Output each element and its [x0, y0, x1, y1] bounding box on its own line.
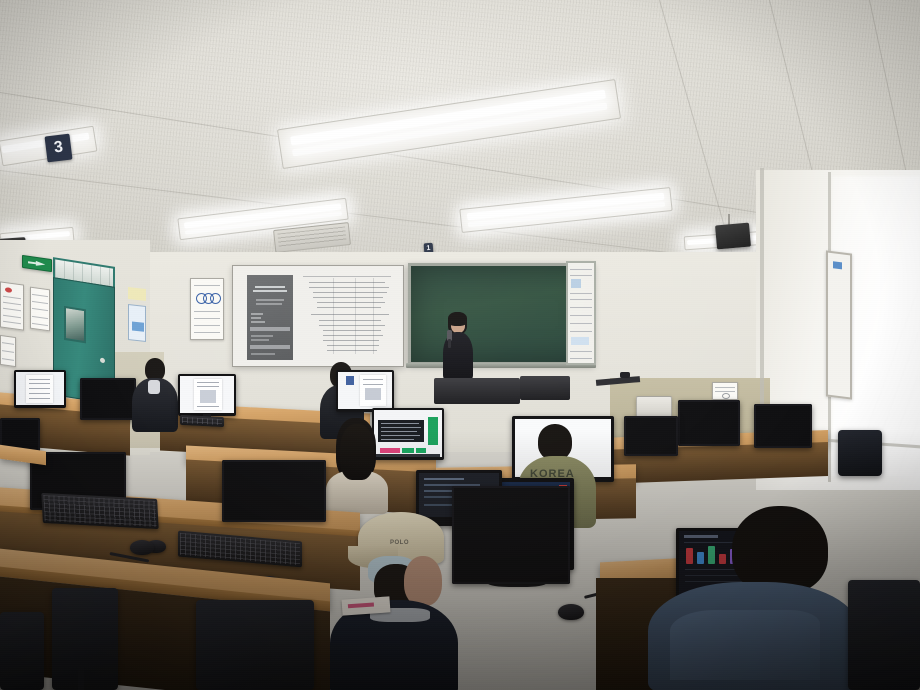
board-side-panel: [566, 261, 596, 365]
slide-title-line-1: [255, 286, 285, 288]
room-number-plate-near: 3: [45, 134, 73, 163]
spreadsheet-green-column: [428, 417, 438, 445]
monitor[interactable]: [678, 400, 740, 446]
monitor[interactable]: [624, 416, 678, 456]
slide-title-line-2: [253, 290, 287, 292]
wall-note-yellow: [128, 287, 146, 301]
monitor-foreground[interactable]: [452, 486, 570, 584]
chair[interactable]: [196, 600, 314, 690]
wall-speaker-right: [715, 223, 751, 250]
chair-leg: [78, 660, 84, 690]
book-on-desk: [342, 596, 391, 615]
monitor[interactable]: [754, 404, 812, 448]
projection-screen: [232, 265, 404, 367]
monitor-left-doc[interactable]: [178, 374, 236, 416]
monitor[interactable]: [14, 370, 66, 408]
cap-text-polo: POLO: [390, 540, 409, 546]
chair[interactable]: [838, 430, 882, 476]
student-longhair: [326, 418, 388, 508]
instructor: [440, 312, 476, 380]
front-av-cabinet: [434, 378, 520, 404]
chair[interactable]: [848, 580, 920, 690]
monitor[interactable]: [222, 460, 326, 522]
wall-poster-rings: [190, 278, 224, 340]
monitor[interactable]: [80, 378, 136, 420]
wall-poster-left-1: [0, 281, 24, 330]
wall-notice-blue: [128, 304, 146, 342]
wall-notice-frame: [826, 250, 852, 399]
chair[interactable]: [0, 612, 44, 690]
slide-right-table: [303, 274, 397, 362]
chair[interactable]: [52, 588, 118, 690]
monitor-mid-doc[interactable]: [336, 370, 394, 412]
mouse[interactable]: [130, 540, 154, 555]
front-av-cabinet-2: [520, 376, 570, 400]
keyboard[interactable]: [41, 493, 158, 529]
mouse[interactable]: [558, 604, 584, 620]
wall-sign-small: [712, 382, 738, 400]
student-blue-shirt: [648, 506, 860, 690]
spreadsheet-green-chip: [402, 448, 414, 453]
wall-poster-left-2: [30, 287, 50, 332]
classroom-photo: 3 1: [0, 0, 920, 690]
student-left-back: [132, 358, 178, 430]
mic-head: [620, 372, 630, 378]
wall-poster-left-3: [0, 335, 16, 367]
slide-left-panel: [247, 275, 293, 360]
